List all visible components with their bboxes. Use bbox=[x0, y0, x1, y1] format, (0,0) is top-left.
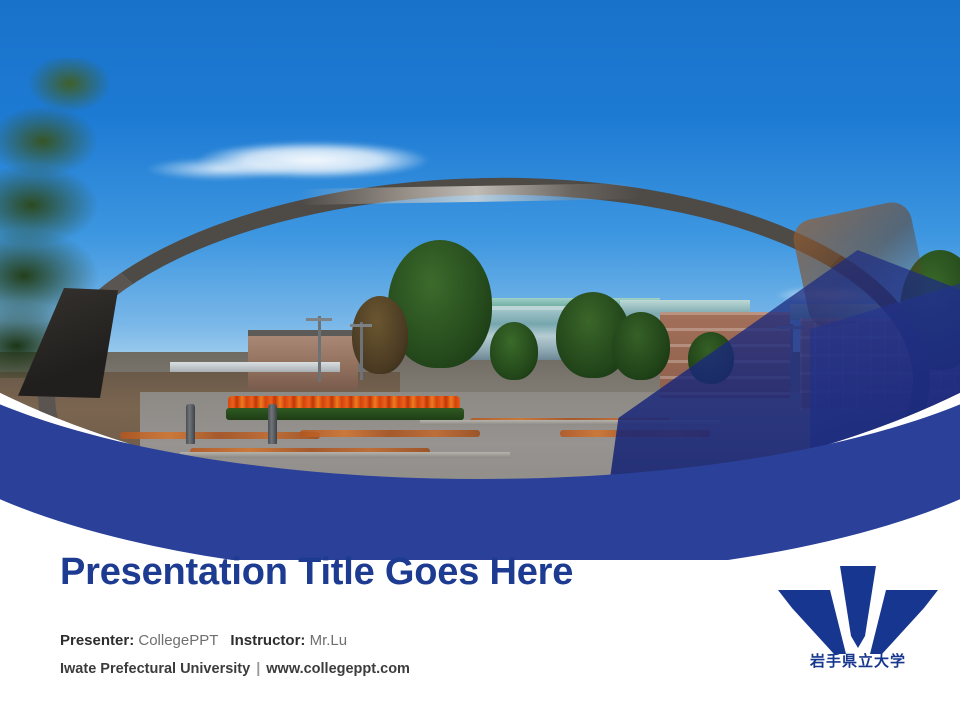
presenter-label: Presenter: bbox=[60, 632, 134, 649]
presenter-instructor-line: Presenter: CollegePPTInstructor: Mr.Lu bbox=[60, 632, 347, 649]
crescent-fill bbox=[0, 386, 960, 560]
presentation-slide: Presentation Title Goes Here Presenter: … bbox=[0, 0, 960, 720]
university-logo-japanese-text: 岩手県立大学 bbox=[770, 650, 946, 671]
text-separator: | bbox=[250, 661, 266, 677]
university-logo-mark bbox=[770, 562, 946, 654]
university-logo: 岩手県立大学 bbox=[770, 562, 946, 678]
page-title: Presentation Title Goes Here bbox=[60, 551, 573, 594]
website-link[interactable]: www.collegeppt.com bbox=[266, 661, 410, 677]
organization-name: Iwate Prefectural University bbox=[60, 661, 250, 677]
organization-website-line: Iwate Prefectural University|www.college… bbox=[60, 661, 410, 677]
blue-crescent-band bbox=[0, 360, 960, 560]
instructor-label: Instructor: bbox=[230, 632, 305, 649]
cloud-icon bbox=[120, 152, 320, 186]
presenter-value: CollegePPT bbox=[138, 632, 218, 649]
instructor-value: Mr.Lu bbox=[310, 632, 348, 649]
